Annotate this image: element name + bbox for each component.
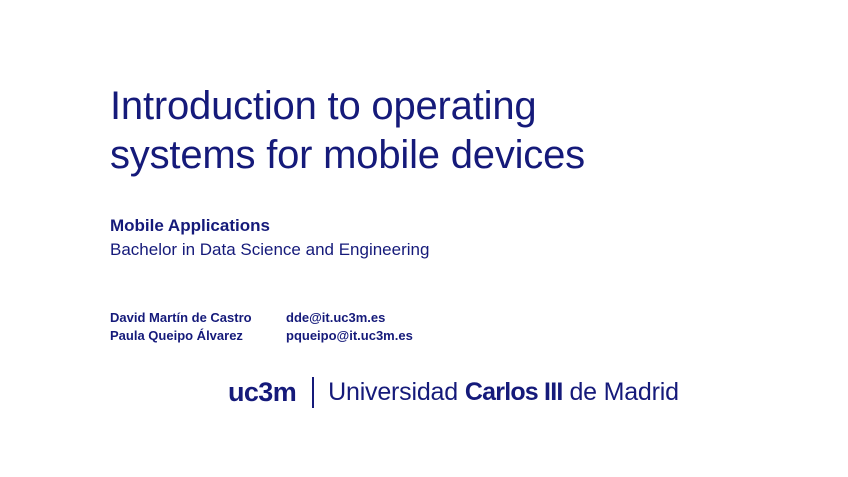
uc3m-logo: uc3m Universidad Carlos III de Madrid [228, 376, 679, 408]
author-email: pqueipo@it.uc3m.es [286, 327, 413, 345]
subtitle: Mobile Applications Bachelor in Data Sci… [110, 214, 750, 262]
course-name: Mobile Applications [110, 214, 750, 238]
university-name-strong: Carlos III [465, 378, 563, 406]
university-name-suffix: de Madrid [569, 378, 678, 406]
author-name: Paula Queipo Álvarez [110, 327, 286, 345]
title-slide: Introduction to operating systems for mo… [0, 0, 848, 477]
degree-name: Bachelor in Data Science and Engineering [110, 238, 750, 262]
logo-divider [312, 377, 314, 408]
author-email: dde@it.uc3m.es [286, 309, 385, 327]
university-name-prefix: Universidad [328, 378, 458, 406]
page-title: Introduction to operating systems for mo… [110, 82, 750, 180]
title-line-2: systems for mobile devices [110, 131, 750, 180]
list-item: Paula Queipo Álvarez pqueipo@it.uc3m.es [110, 327, 413, 345]
university-name: Universidad Carlos III de Madrid [328, 380, 679, 405]
author-name: David Martín de Castro [110, 309, 286, 327]
uc3m-wordmark-icon: uc3m [228, 379, 296, 406]
list-item: David Martín de Castro dde@it.uc3m.es [110, 309, 413, 327]
title-line-1: Introduction to operating [110, 82, 750, 131]
author-list: David Martín de Castro dde@it.uc3m.es Pa… [110, 309, 413, 345]
